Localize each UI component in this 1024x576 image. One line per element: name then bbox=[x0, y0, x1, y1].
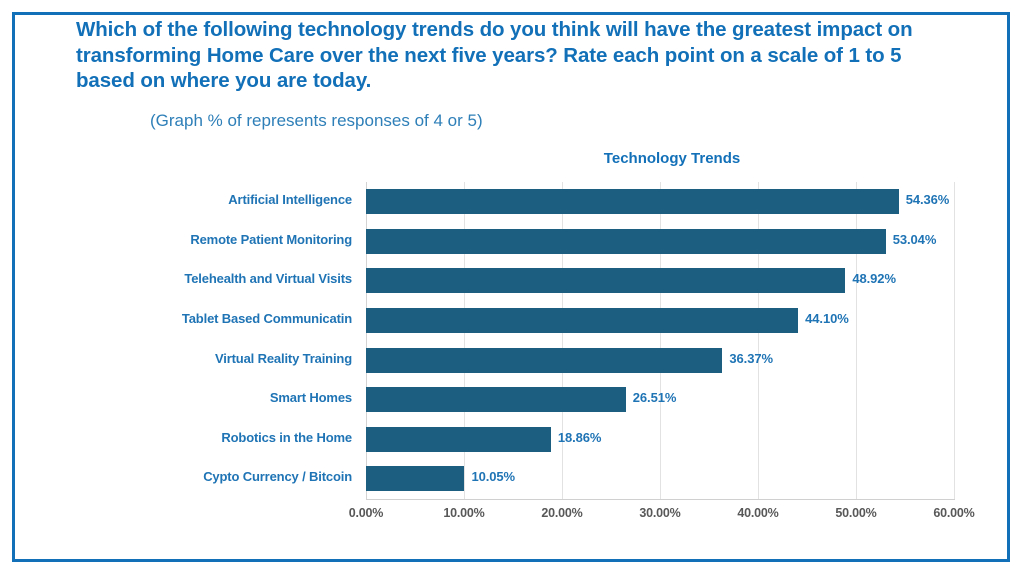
x-axis-line bbox=[366, 499, 955, 500]
chart-plot-area: Artificial Intelligence54.36%Remote Pati… bbox=[366, 182, 954, 499]
bar-value-label: 26.51% bbox=[633, 390, 677, 405]
bar-value-label: 48.92% bbox=[852, 271, 896, 286]
x-axis-tick-label: 40.00% bbox=[713, 506, 803, 520]
x-axis-tick-label: 50.00% bbox=[811, 506, 901, 520]
chart-bar-row: Smart Homes26.51% bbox=[366, 380, 954, 420]
bar-value-label: 10.05% bbox=[471, 469, 515, 484]
x-gridline bbox=[954, 182, 955, 499]
category-label: Virtual Reality Training bbox=[215, 351, 352, 366]
bar-value-label: 53.04% bbox=[893, 232, 937, 247]
category-label: Artificial Intelligence bbox=[228, 192, 352, 207]
chart-bar-row: Telehealth and Virtual Visits48.92% bbox=[366, 261, 954, 301]
x-axis-tick-label: 0.00% bbox=[321, 506, 411, 520]
x-axis-tick-label: 30.00% bbox=[615, 506, 705, 520]
chart-bar-row: Cypto Currency / Bitcoin10.05% bbox=[366, 459, 954, 499]
chart-bar[interactable] bbox=[366, 268, 845, 293]
chart-bar-row: Virtual Reality Training36.37% bbox=[366, 341, 954, 381]
x-axis-tick-label: 60.00% bbox=[909, 506, 999, 520]
chart-bar[interactable] bbox=[366, 387, 626, 412]
category-label: Smart Homes bbox=[270, 390, 352, 405]
chart-bar[interactable] bbox=[366, 189, 899, 214]
category-label: Telehealth and Virtual Visits bbox=[184, 271, 352, 286]
chart-bar[interactable] bbox=[366, 308, 798, 333]
chart-plot-wrapper: Artificial Intelligence54.36%Remote Pati… bbox=[0, 0, 998, 550]
bar-value-label: 44.10% bbox=[805, 311, 849, 326]
bar-value-label: 54.36% bbox=[906, 192, 950, 207]
bar-value-label: 36.37% bbox=[729, 351, 773, 366]
chart-bar[interactable] bbox=[366, 348, 722, 373]
category-label: Robotics in the Home bbox=[221, 430, 352, 445]
chart-bar-row: Robotics in the Home18.86% bbox=[366, 420, 954, 460]
chart-bar[interactable] bbox=[366, 466, 464, 491]
chart-bar-row: Artificial Intelligence54.36% bbox=[366, 182, 954, 222]
category-label: Cypto Currency / Bitcoin bbox=[203, 469, 352, 484]
category-label: Tablet Based Communicatin bbox=[182, 311, 352, 326]
chart-bar[interactable] bbox=[366, 229, 886, 254]
x-axis-tick-label: 10.00% bbox=[419, 506, 509, 520]
chart-bar[interactable] bbox=[366, 427, 551, 452]
x-axis-tick-label: 20.00% bbox=[517, 506, 607, 520]
category-label: Remote Patient Monitoring bbox=[190, 232, 352, 247]
bar-value-label: 18.86% bbox=[558, 430, 602, 445]
chart-bar-row: Tablet Based Communicatin44.10% bbox=[366, 301, 954, 341]
chart-bar-row: Remote Patient Monitoring53.04% bbox=[366, 222, 954, 262]
slide-canvas: Which of the following technology trends… bbox=[0, 0, 1024, 576]
